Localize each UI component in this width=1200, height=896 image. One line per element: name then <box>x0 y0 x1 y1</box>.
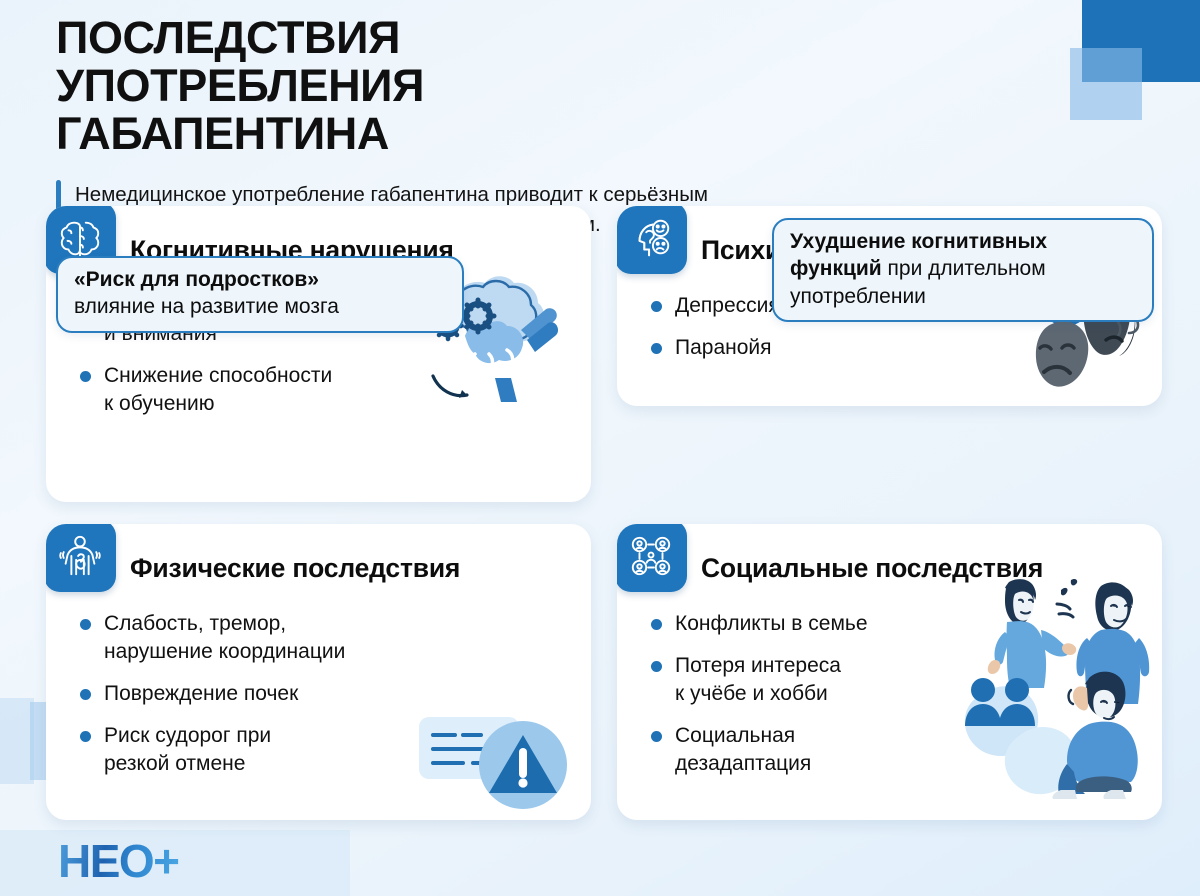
body-organs-icon <box>46 524 116 592</box>
card-cognitive[interactable]: Когнитивные нарушения <box>46 206 591 502</box>
list-item: Слабость, тремор, нарушение координации <box>80 610 571 666</box>
list-item: Риск судорог при резкой отмене <box>80 722 571 778</box>
bullet-dot-icon <box>80 689 91 700</box>
people-network-icon <box>617 524 687 592</box>
decorative-square-top-light <box>1070 48 1142 120</box>
bullet-dot-icon <box>651 661 662 672</box>
bullet-dot-icon <box>80 371 91 382</box>
card-social[interactable]: Социальные последствия <box>617 524 1162 820</box>
card-title: Физические последствия <box>130 554 460 583</box>
callout-mixed-text: Ухудшение когнитивных функций при длител… <box>790 228 1136 310</box>
callout-plain-text: влияние на развитие мозга <box>74 293 446 320</box>
bullet-list-social: Конфликты в семье Потеря интереса к учёб… <box>651 610 1142 778</box>
brand-logo[interactable]: НЕО+ <box>58 838 179 884</box>
bullet-text: Повреждение почек <box>104 680 298 708</box>
cards-row-bottom: Физические последствия <box>46 524 1162 820</box>
bullet-text: Потеря интереса к учёбе и хобби <box>675 652 841 708</box>
bullet-text: Паранойя <box>675 334 772 362</box>
card-column-social: Социальные последствия <box>617 524 1162 820</box>
list-item: Социальная дезадаптация <box>651 722 1142 778</box>
bullet-text: Конфликты в семье <box>675 610 868 638</box>
bullet-text: Социальная дезадаптация <box>675 722 811 778</box>
callout-bold-text: «Риск для подростков» <box>74 266 446 293</box>
bullet-list-physical: Слабость, тремор, нарушение координации … <box>80 610 571 778</box>
list-item: Повреждение почек <box>80 680 571 708</box>
bullet-dot-icon <box>651 731 662 742</box>
card-header-physical: Физические последствия <box>80 540 571 598</box>
card-column-physical: Физические последствия <box>46 524 591 820</box>
callout-teens-risk: «Риск для подростков» влияние на развити… <box>56 256 464 333</box>
bullet-dot-icon <box>651 619 662 630</box>
header: ПОСЛЕДСТВИЯ УПОТРЕБЛЕНИЯ ГАБАПЕНТИНА Нем… <box>56 14 1056 239</box>
bullet-text: Слабость, тремор, нарушение координации <box>104 610 345 666</box>
page-title: ПОСЛЕДСТВИЯ УПОТРЕБЛЕНИЯ ГАБАПЕНТИНА <box>56 14 756 158</box>
card-column-cognitive: Когнитивные нарушения <box>46 206 591 502</box>
list-item: Конфликты в семье <box>651 610 1142 638</box>
callout-longterm-use: Ухудшение когнитивных функций при длител… <box>772 218 1154 322</box>
bullet-dot-icon <box>651 301 662 312</box>
bullet-dot-icon <box>651 343 662 354</box>
card-header-social: Социальные последствия <box>651 540 1142 598</box>
card-title: Социальные последствия <box>701 554 1043 583</box>
bullet-text: Снижение способности к обучению <box>104 362 332 418</box>
decorative-square-bottom-2 <box>0 698 34 784</box>
list-item: Паранойя <box>651 334 1142 362</box>
list-item: Потеря интереса к учёбе и хобби <box>651 652 1142 708</box>
card-physical[interactable]: Физические последствия <box>46 524 591 820</box>
head-emotions-icon <box>617 206 687 274</box>
decorative-square-top-dark <box>1082 0 1200 82</box>
list-item: Снижение способности к обучению <box>80 362 571 418</box>
bullet-dot-icon <box>80 731 91 742</box>
bullet-dot-icon <box>80 619 91 630</box>
bullet-text: Риск судорог при резкой отмене <box>104 722 271 778</box>
